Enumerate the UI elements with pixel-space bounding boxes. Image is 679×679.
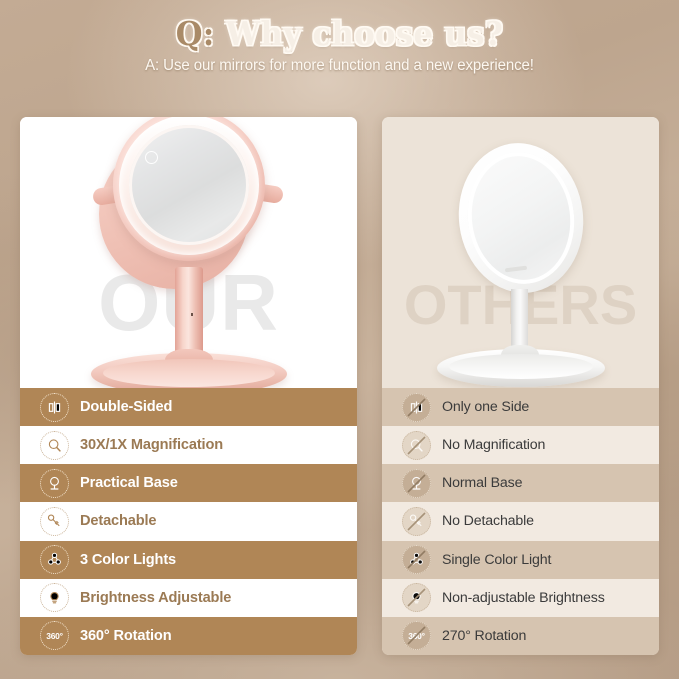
feature-row: Double-Sided (20, 388, 357, 426)
feature-list-ours: Double-Sided 30X/1X Magnification Practi… (20, 388, 357, 655)
feature-label: Normal Base (442, 475, 522, 491)
double-sided-icon (40, 393, 69, 422)
brightness-icon (40, 583, 69, 612)
rotation-icon: 360° (40, 621, 69, 650)
feature-label: 360° Rotation (80, 628, 171, 644)
rotation-icon: 360° (402, 621, 431, 650)
panel-others: OTHERS Only one Side (382, 117, 659, 655)
feature-label: 270° Rotation (442, 628, 526, 644)
magnifier-icon (402, 431, 431, 460)
page-title: Q: Why choose us? (24, 0, 655, 53)
pink-mirror-illustration (69, 117, 309, 388)
white-mirror-illustration (421, 117, 621, 388)
mirror-base-tray (449, 354, 593, 379)
feature-label: Single Color Light (442, 552, 551, 568)
base-icon (402, 469, 431, 498)
feature-label: Only one Side (442, 399, 529, 415)
post-indicator (191, 313, 193, 316)
title-text: Why choose us? (226, 14, 504, 53)
feature-list-others: Only one Side No Magnification Normal Ba… (382, 388, 659, 655)
feature-label: 3 Color Lights (80, 552, 176, 568)
subtitle: A: Use our mirrors for more function and… (10, 57, 669, 75)
header: Q: Why choose us? A: Use our mirrors for… (0, 0, 679, 75)
feature-row: 360° 360° Rotation (20, 617, 357, 655)
feature-label: Detachable (80, 513, 156, 529)
feature-row: Practical Base (20, 464, 357, 502)
feature-row: Only one Side (382, 388, 659, 426)
feature-row: Normal Base (382, 464, 659, 502)
brightness-icon (402, 583, 431, 612)
detachable-icon (402, 507, 431, 536)
color-lights-icon (402, 545, 431, 574)
product-image-others: OTHERS (382, 117, 659, 388)
base-icon (40, 469, 69, 498)
feature-label: Non-adjustable Brightness (442, 590, 605, 606)
product-image-ours: OUR (20, 117, 357, 388)
feature-label: Double-Sided (80, 399, 172, 415)
feature-row: No Magnification (382, 426, 659, 464)
title-question-mark: Q: (176, 14, 215, 53)
mirror-glass (129, 125, 249, 245)
infographic-root: Q: Why choose us? A: Use our mirrors for… (0, 0, 679, 679)
feature-row: 3 Color Lights (20, 541, 357, 579)
feature-row: Single Color Light (382, 541, 659, 579)
feature-row: Brightness Adjustable (20, 579, 357, 617)
feature-label: 30X/1X Magnification (80, 437, 223, 453)
feature-row: Non-adjustable Brightness (382, 579, 659, 617)
rotation-icon-text: 360° (46, 631, 62, 641)
feature-label: No Detachable (442, 513, 534, 529)
feature-label: Brightness Adjustable (80, 590, 231, 606)
magnifier-icon (40, 431, 69, 460)
feature-row: No Detachable (382, 502, 659, 540)
feature-row: 30X/1X Magnification (20, 426, 357, 464)
feature-row: Detachable (20, 502, 357, 540)
touch-sensor-icon (145, 151, 158, 164)
rotation-icon-text: 360° (408, 631, 424, 641)
mirror-base-tray (103, 359, 275, 387)
panel-ours: OUR Double-Sided (20, 117, 357, 655)
double-sided-icon (402, 393, 431, 422)
color-lights-icon (40, 545, 69, 574)
feature-row: 360° 270° Rotation (382, 617, 659, 655)
feature-label: No Magnification (442, 437, 545, 453)
feature-label: Practical Base (80, 475, 178, 491)
detachable-icon (40, 507, 69, 536)
